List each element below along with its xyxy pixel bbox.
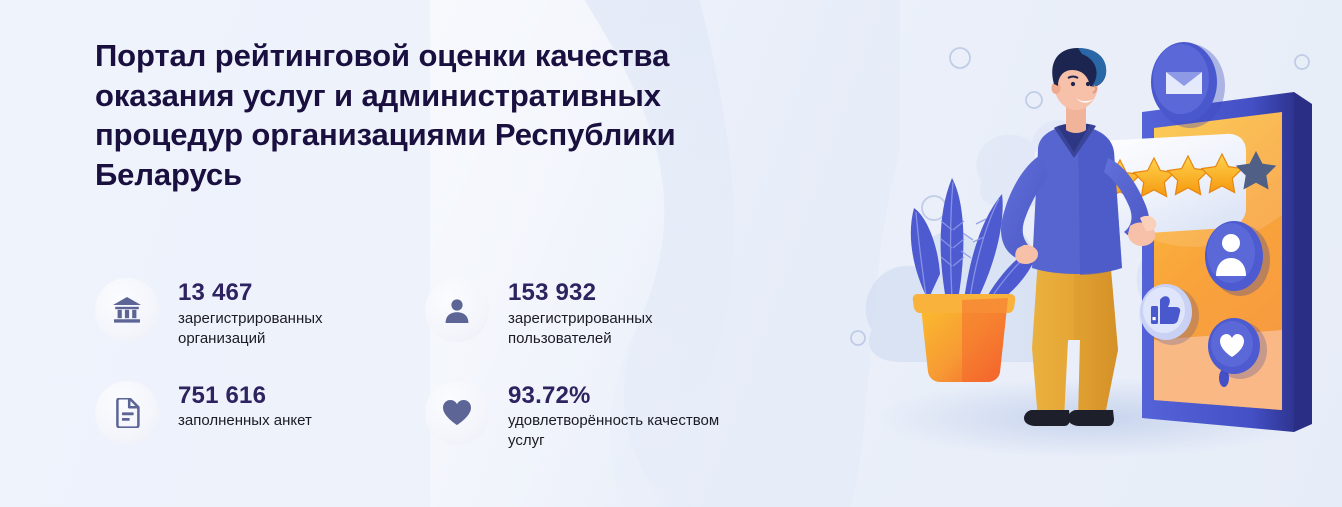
stat-label: заполненных анкет bbox=[178, 411, 312, 431]
stat-completed-forms: 751 616 заполненных анкет bbox=[95, 381, 425, 452]
stat-text-block: 751 616 заполненных анкет bbox=[178, 381, 312, 432]
stat-icon-badge bbox=[425, 381, 489, 445]
heart-icon bbox=[442, 399, 472, 426]
document-icon bbox=[114, 398, 140, 428]
statistics-list: 13 467 зарегистрированных организаций 15… bbox=[95, 278, 815, 451]
stat-label: удовлетворённость качеством услуг bbox=[508, 411, 723, 451]
stat-registered-organizations: 13 467 зарегистрированных организаций bbox=[95, 278, 425, 349]
stat-value: 93.72% bbox=[508, 383, 723, 409]
stat-value: 751 616 bbox=[178, 383, 312, 409]
stat-icon-badge bbox=[95, 278, 159, 342]
stat-icon-badge bbox=[425, 278, 489, 342]
shoe-left bbox=[1024, 410, 1070, 426]
stat-icon-badge bbox=[95, 381, 159, 445]
stat-text-block: 13 467 зарегистрированных организаций bbox=[178, 278, 393, 349]
stat-text-block: 153 932 зарегистрированных пользователей bbox=[508, 278, 723, 349]
stat-value: 153 932 bbox=[508, 280, 723, 306]
eye bbox=[1086, 82, 1090, 86]
user-icon bbox=[443, 296, 471, 324]
bank-icon bbox=[112, 296, 142, 324]
stat-registered-users: 153 932 зарегистрированных пользователей bbox=[425, 278, 755, 349]
eye bbox=[1071, 82, 1075, 86]
stat-label: зарегистрированных пользователей bbox=[508, 309, 723, 349]
stat-value: 13 467 bbox=[178, 280, 393, 306]
stat-text-block: 93.72% удовлетворённость качеством услуг bbox=[508, 381, 723, 452]
banner-content: Портал рейтинговой оценки качества оказа… bbox=[95, 0, 855, 507]
user-icon bbox=[1222, 234, 1240, 252]
hero-banner: Портал рейтинговой оценки качества оказа… bbox=[0, 0, 1342, 507]
statistics-row: 751 616 заполненных анкет 93.72% удовлет… bbox=[95, 381, 815, 452]
stat-label: зарегистрированных организаций bbox=[178, 309, 393, 349]
man-rating-smartphone-illustration bbox=[842, 0, 1342, 507]
stat-service-satisfaction: 93.72% удовлетворённость качеством услуг bbox=[425, 381, 755, 452]
page-title: Портал рейтинговой оценки качества оказа… bbox=[95, 36, 795, 195]
shoe-right bbox=[1068, 410, 1114, 426]
statistics-row: 13 467 зарегистрированных организаций 15… bbox=[95, 278, 815, 349]
